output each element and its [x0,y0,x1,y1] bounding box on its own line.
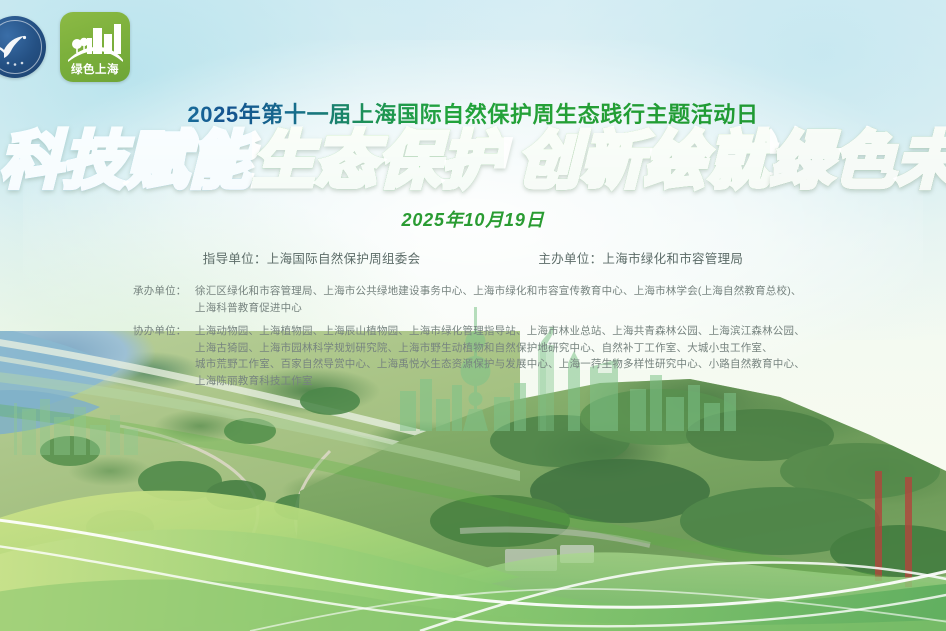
organizer-details: 承办单位： 徐汇区绿化和市容管理局、上海市公共绿地建设事务中心、上海市绿化和市容… [133,283,813,389]
logo-group: 绿色上海 [0,12,130,82]
coorganizer-list: 上海动物园、上海植物园、上海辰山植物园、上海市绿化管理指导站、上海市林业总站、上… [195,323,813,389]
guidance-unit-value: 上海国际自然保护周组委会 [267,252,421,266]
main-title-segment-4: 绿色未来 [770,127,946,196]
undertaker-unit: 承办单位： 徐汇区绿化和市容管理局、上海市公共绿地建设事务中心、上海市绿化和市容… [133,283,813,316]
coorganizer-line: 上海动物园、上海植物园、上海辰山植物园、上海市绿化管理指导站、上海市林业总站、上… [195,323,813,340]
undertaker-label: 承办单位： [133,283,195,316]
main-title-segment-3: 创新绘就 [518,127,770,196]
host-unit-label: 主办单位： [538,252,602,266]
green-shanghai-badge-label: 绿色上海 [60,65,130,77]
green-shanghai-badge: 绿色上海 [60,12,130,82]
host-unit-value: 上海市绿化和市容管理局 [602,252,743,266]
main-title: 科技赋能生态保护创新绘就绿色未来 [0,131,946,193]
main-title-segment-2: 生态保护 [252,127,504,196]
organizer-top-row: 指导单位：上海国际自然保护周组委会 主办单位：上海市绿化和市容管理局 [0,248,946,267]
event-date: 2025年10月19日 [0,206,946,232]
coorganizer-unit: 协办单位： 上海动物园、上海植物园、上海辰山植物园、上海市绿化管理指导站、上海市… [133,323,813,389]
undertaker-line: 上海科普教育促进中心 [195,300,813,317]
organizer-block: 指导单位：上海国际自然保护周组委会 主办单位：上海市绿化和市容管理局 承办单位：… [0,248,946,389]
host-unit: 主办单位：上海市绿化和市容管理局 [538,248,743,267]
guidance-unit: 指导单位：上海国际自然保护周组委会 [203,248,421,267]
coorganizer-line: 上海陈丽教育科技工作室 [195,373,813,390]
shanghai-nature-week-emblem [0,16,46,78]
undertaker-list: 徐汇区绿化和市容管理局、上海市公共绿地建设事务中心、上海市绿化和市容宣传教育中心… [195,283,813,316]
event-subtitle: 2025年第十一届上海国际自然保护周生态践行主题活动日 [0,97,946,129]
coorganizer-line: 城市荒野工作室、百家自然导赏中心、上海禹悦水生态资源保护与发展中心、上海一荇生物… [195,356,813,373]
guidance-unit-label: 指导单位： [203,252,267,266]
coorganizer-line: 上海古猗园、上海市园林科学规划研究院、上海市野生动植物和自然保护地研究中心、自然… [195,340,813,357]
poster-canvas: 绿色上海 2025年第十一届上海国际自然保护周生态践行主题活动日 科技赋能生态保… [0,0,946,631]
coorganizer-label: 协办单位： [133,323,195,389]
main-title-segment-1: 科技赋能 [0,127,252,196]
undertaker-line: 徐汇区绿化和市容管理局、上海市公共绿地建设事务中心、上海市绿化和市容宣传教育中心… [195,283,813,300]
